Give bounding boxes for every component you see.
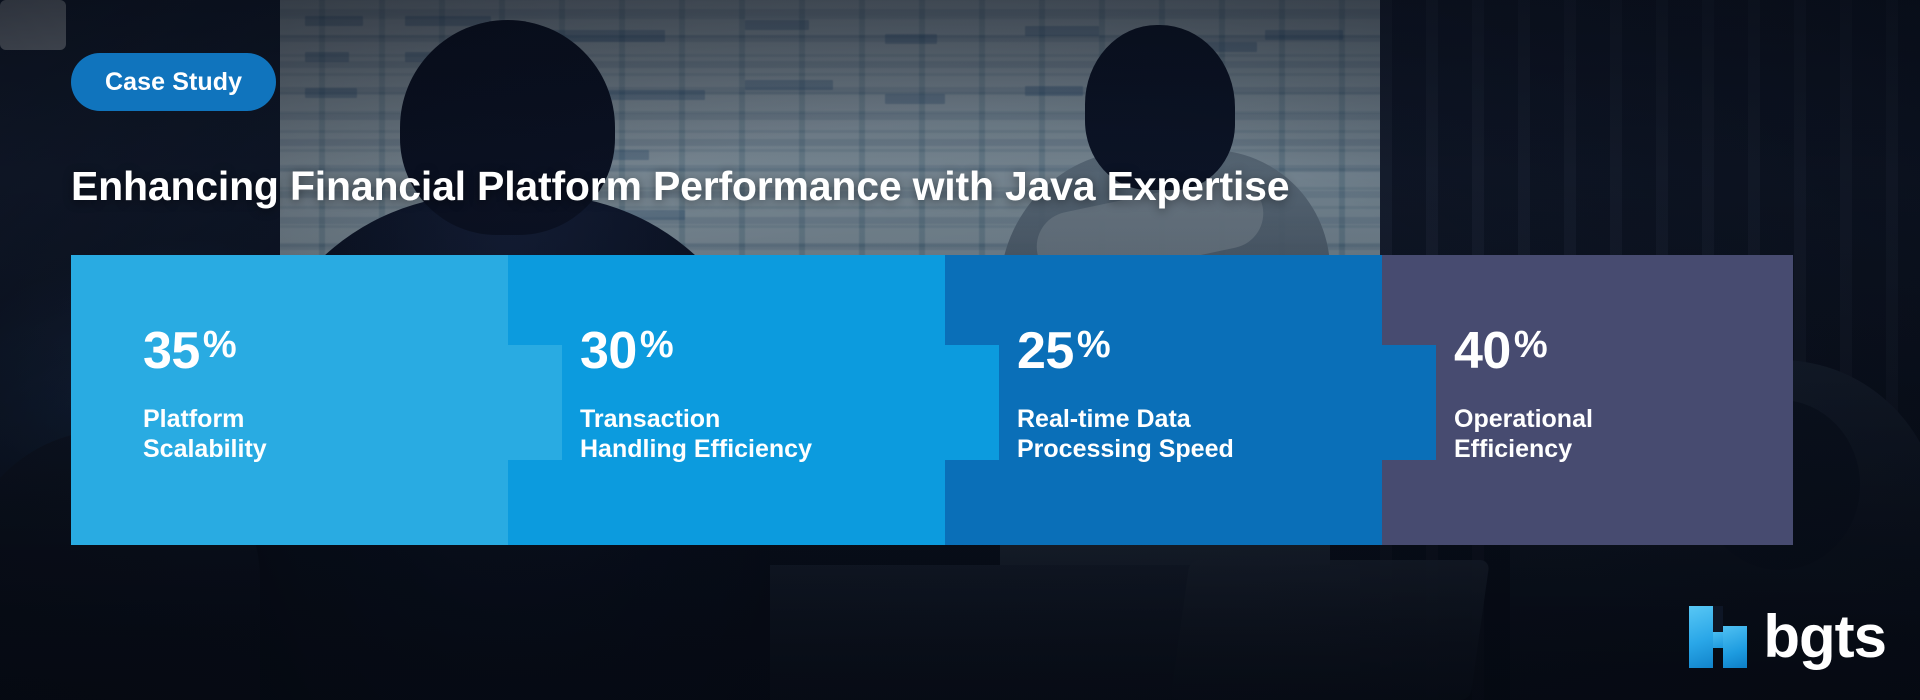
stat-value: 25%: [1017, 325, 1393, 377]
stat-value-number: 40: [1454, 325, 1511, 377]
stat-card-real-time-data-processing-speed: 25%Real-time Data Processing Speed: [945, 255, 1382, 545]
stat-card-body: 30%Transaction Handling Efficiency: [580, 325, 956, 464]
stat-card-body: 35%Platform Scalability: [143, 325, 519, 464]
stat-label: Operational Efficiency: [1454, 405, 1807, 464]
case-study-badge: Case Study: [71, 53, 276, 111]
stat-value-number: 30: [580, 325, 637, 377]
logo-gap: [1713, 606, 1723, 632]
stat-label: Transaction Handling Efficiency: [580, 405, 956, 464]
case-study-badge-label: Case Study: [105, 68, 242, 97]
page-title: Enhancing Financial Platform Performance…: [71, 163, 1289, 210]
logo-bar-right: [1723, 626, 1747, 668]
stat-label: Real-time Data Processing Speed: [1017, 405, 1393, 464]
logo-bar-left: [1689, 606, 1713, 668]
stat-value: 35%: [143, 325, 519, 377]
stats-band: 35%Platform Scalability30%Transaction Ha…: [71, 255, 1793, 545]
banner-content: Case Study Enhancing Financial Platform …: [0, 0, 1920, 700]
stat-card-body: 25%Real-time Data Processing Speed: [1017, 325, 1393, 464]
bgts-logo-text: bgts: [1763, 607, 1886, 667]
bgts-logo: bgts: [1689, 606, 1886, 668]
stat-label: Platform Scalability: [143, 405, 519, 464]
stat-card-platform-scalability: 35%Platform Scalability: [71, 255, 508, 545]
stat-value-percent-sign: %: [203, 326, 236, 364]
stat-value: 30%: [580, 325, 956, 377]
case-study-banner: Case Study Enhancing Financial Platform …: [0, 0, 1920, 700]
stat-value-number: 35: [143, 325, 200, 377]
bgts-logo-mark-icon: [1689, 606, 1747, 668]
stat-value-number: 25: [1017, 325, 1074, 377]
stat-value-percent-sign: %: [1077, 326, 1110, 364]
stat-value: 40%: [1454, 325, 1807, 377]
stat-card-operational-efficiency: 40%Operational Efficiency: [1382, 255, 1793, 545]
logo-notch: [1713, 632, 1723, 648]
stat-card-transaction-handling-efficiency: 30%Transaction Handling Efficiency: [508, 255, 945, 545]
stat-card-body: 40%Operational Efficiency: [1454, 325, 1807, 464]
stat-value-percent-sign: %: [1514, 326, 1547, 364]
stat-value-percent-sign: %: [640, 326, 673, 364]
